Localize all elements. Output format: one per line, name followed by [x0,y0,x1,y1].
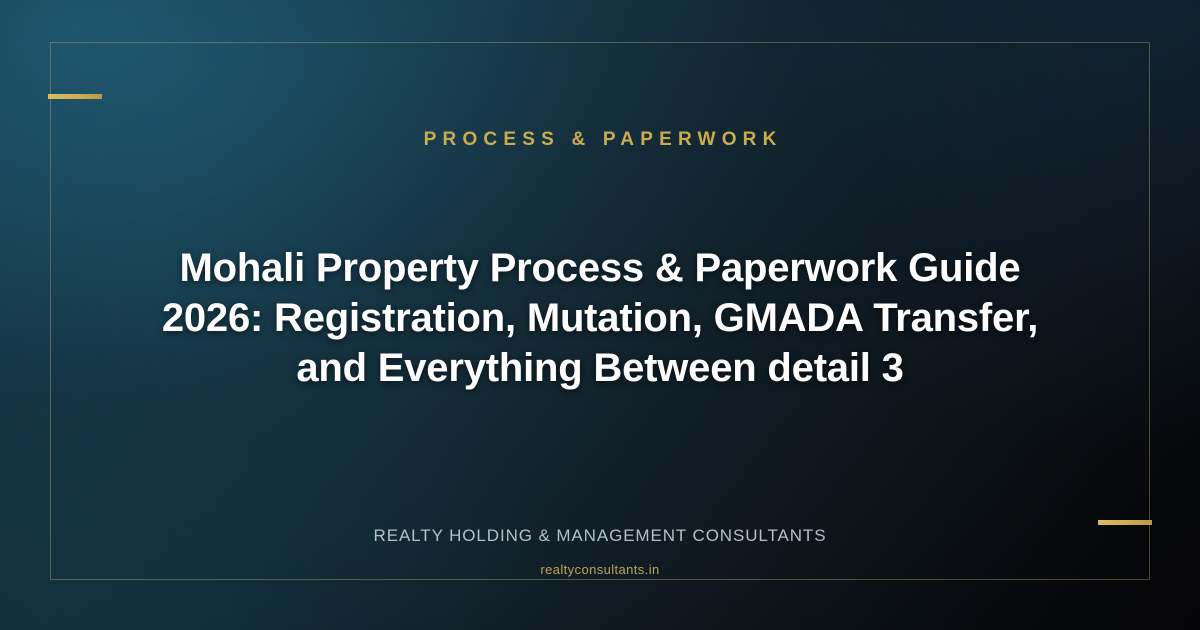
title-slide: PROCESS & PAPERWORK Mohali Property Proc… [0,0,1200,630]
page-title: Mohali Property Process & Paperwork Guid… [100,243,1100,393]
slide-content: PROCESS & PAPERWORK Mohali Property Proc… [50,42,1150,580]
title-line-2: 2026: Registration, Mutation, GMADA Tran… [100,293,1100,343]
eyebrow-category-label: PROCESS & PAPERWORK [50,130,1150,149]
footer-website-url: realtyconsultants.in [50,563,1150,576]
title-line-1: Mohali Property Process & Paperwork Guid… [100,243,1100,293]
footer-brand-name: REALTY HOLDING & MANAGEMENT CONSULTANTS [50,527,1150,544]
title-line-3: and Everything Between detail 3 [100,343,1100,393]
